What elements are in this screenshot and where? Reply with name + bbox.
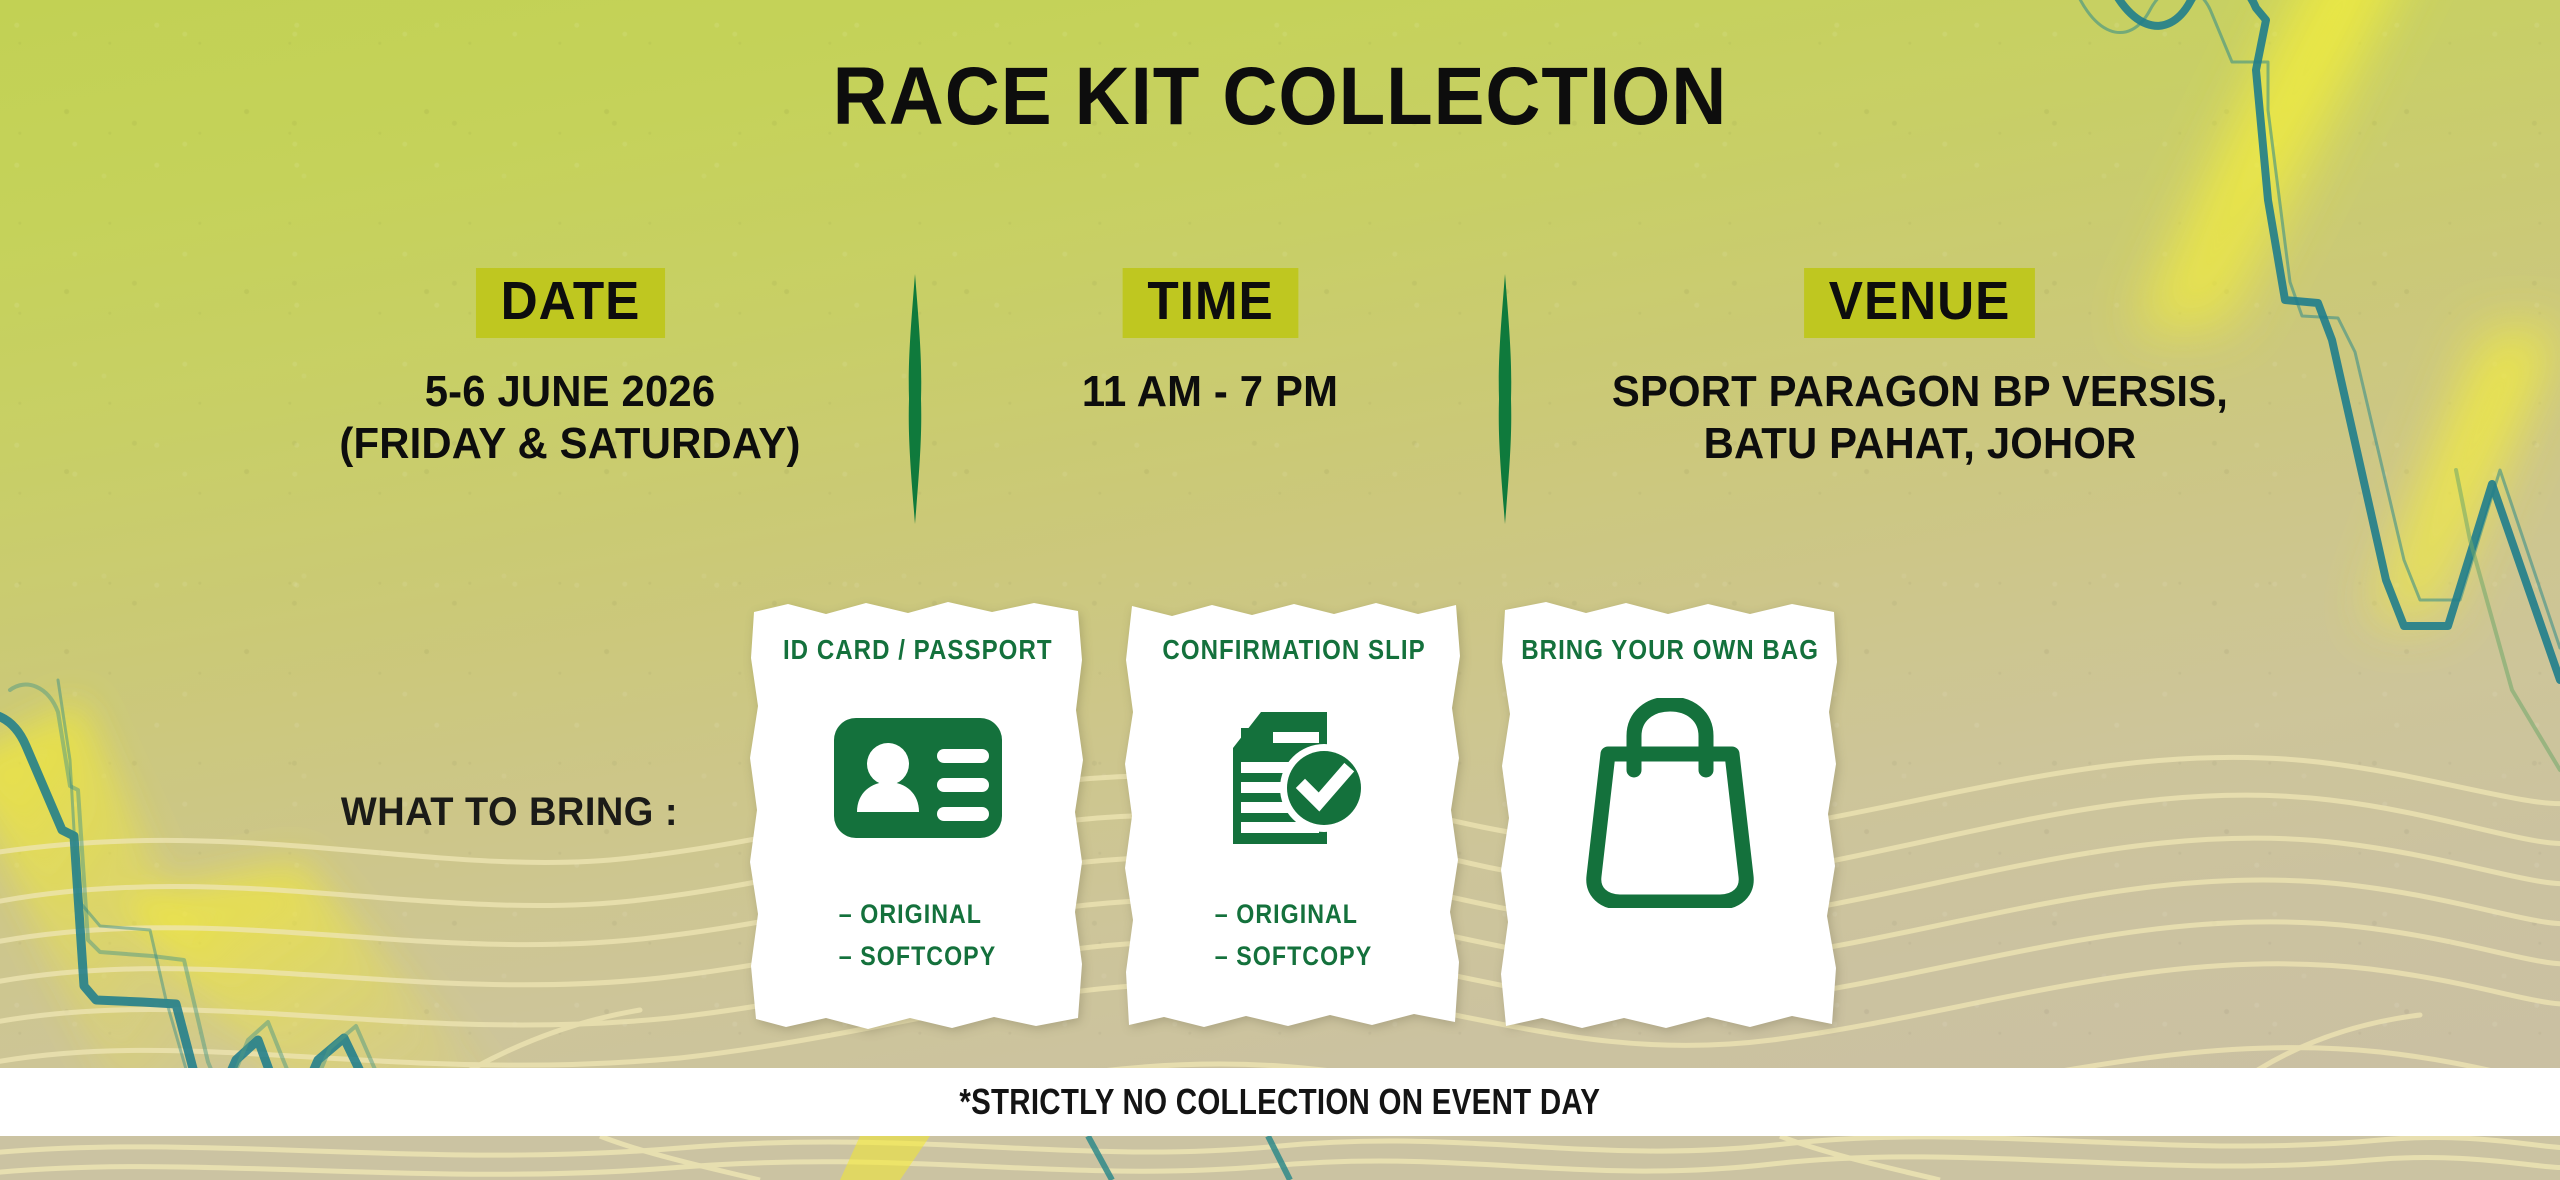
what-to-bring-cards: ID CARD / PASSPORT – ORIGINAL – SOFTCOPY: [748, 600, 1840, 1030]
event-info-row: DATE 5-6 JUNE 2026 (FRIDAY & SATURDAY) T…: [0, 268, 2560, 524]
shopping-bag-icon: [1582, 678, 1758, 928]
date-line-1: 5-6 JUNE 2026: [257, 366, 884, 418]
bring-card-slip: CONFIRMATION SLIP: [1124, 600, 1464, 1030]
bring-card-notes: – ORIGINAL – SOFTCOPY: [839, 894, 996, 978]
bring-card-title: ID CARD / PASSPORT: [783, 634, 1053, 666]
bottom-strip: [0, 1136, 2560, 1180]
info-column-time: TIME 11 AM - 7 PM: [930, 268, 1490, 418]
bring-card-notes: – ORIGINAL – SOFTCOPY: [1215, 894, 1372, 978]
bottom-strip-contours: [0, 1136, 2560, 1180]
venue-line-2: BATU PAHAT, JOHOR: [1540, 418, 2300, 470]
date-line-2: (FRIDAY & SATURDAY): [257, 418, 884, 470]
info-column-date: DATE 5-6 JUNE 2026 (FRIDAY & SATURDAY): [240, 268, 900, 470]
page-title: RACE KIT COLLECTION: [90, 56, 2471, 138]
date-details: 5-6 JUNE 2026 (FRIDAY & SATURDAY): [257, 366, 884, 470]
bring-card-note-1: – ORIGINAL: [839, 894, 996, 936]
divider-leaf-2: [1490, 274, 1520, 524]
bring-card-title: BRING YOUR OWN BAG: [1521, 634, 1819, 666]
info-column-venue: VENUE SPORT PARAGON BP VERSIS, BATU PAHA…: [1520, 268, 2320, 470]
venue-details: SPORT PARAGON BP VERSIS, BATU PAHAT, JOH…: [1540, 366, 2300, 470]
id-card-icon: [832, 688, 1004, 868]
bring-card-note-2: – SOFTCOPY: [1215, 936, 1372, 978]
divider-leaf-1: [900, 274, 930, 524]
bring-card-id: ID CARD / PASSPORT – ORIGINAL – SOFTCOPY: [748, 600, 1088, 1030]
time-details: 11 AM - 7 PM: [944, 366, 1476, 418]
footer-note: *STRICTLY NO COLLECTION ON EVENT DAY: [960, 1081, 1601, 1123]
bring-card-content: CONFIRMATION SLIP: [1124, 600, 1464, 1030]
venue-line-1: SPORT PARAGON BP VERSIS,: [1540, 366, 2300, 418]
footer-bar: *STRICTLY NO COLLECTION ON EVENT DAY: [0, 1068, 2560, 1136]
time-badge: TIME: [1122, 268, 1298, 338]
what-to-bring-label: WHAT TO BRING :: [341, 790, 678, 835]
bring-card-bag: BRING YOUR OWN BAG: [1500, 600, 1840, 1030]
bring-card-note-2: – SOFTCOPY: [839, 936, 996, 978]
bring-card-title: CONFIRMATION SLIP: [1162, 634, 1425, 666]
race-kit-collection-poster: RACE KIT COLLECTION DATE 5-6 JUNE 2026 (…: [0, 0, 2560, 1180]
bring-card-note-1: – ORIGINAL: [1215, 894, 1372, 936]
venue-badge: VENUE: [1805, 268, 2036, 338]
bring-card-content: BRING YOUR OWN BAG: [1500, 600, 1840, 1030]
bring-card-content: ID CARD / PASSPORT – ORIGINAL – SOFTCOPY: [748, 600, 1088, 1030]
document-check-icon: [1219, 688, 1369, 868]
time-line-1: 11 AM - 7 PM: [944, 366, 1476, 418]
date-badge: DATE: [475, 268, 664, 338]
